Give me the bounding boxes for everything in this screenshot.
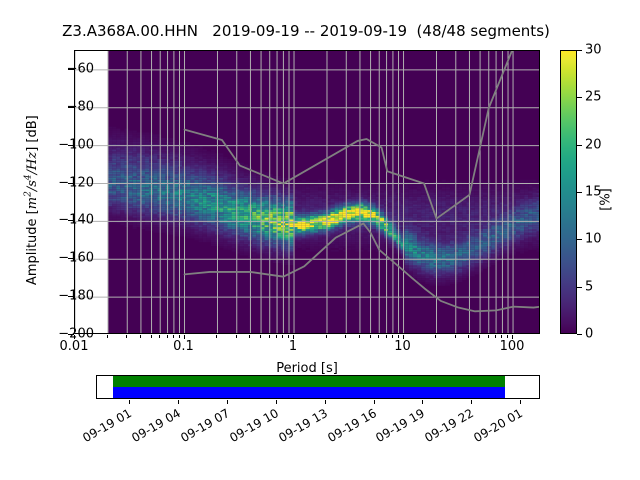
colorbar-tick-label: 20 [585,137,602,152]
x-axis-minor-tick [151,335,152,338]
colorbar-tick-label: 30 [585,43,602,58]
plot-title: Z3.A368A.00.HHN 2019-09-19 -- 2019-09-19… [0,22,612,40]
timeline-tick [325,400,326,404]
x-axis-minor-tick [260,335,261,338]
y-axis-tick-label: −120 [58,175,94,190]
x-axis-minor-tick [140,335,141,338]
timeline-tick [422,400,423,404]
y-axis-tick-label: −180 [58,289,94,304]
ppsd-histogram-canvas [75,51,540,334]
colorbar-tick-label: 5 [585,279,593,294]
x-axis-minor-tick [378,335,379,338]
x-axis-label: Period [s] [74,361,540,376]
x-axis-minor-tick [159,335,160,338]
x-axis-minor-tick [398,335,399,338]
timeline-tick [520,400,521,404]
colorbar-gradient [561,51,576,333]
x-axis-minor-tick [326,335,327,338]
x-axis-minor-tick [386,335,387,338]
x-axis-minor-tick [126,335,127,338]
x-axis-minor-tick [488,335,489,338]
x-axis-minor-tick [167,335,168,338]
x-axis-minor-tick [216,335,217,338]
timeline-tick [178,400,179,404]
timeline-tick [276,400,277,404]
data-coverage-blue [113,387,505,398]
x-axis-minor-tick [107,335,108,338]
x-axis-tick-label: 10 [394,339,411,354]
y-axis-tick-label: −60 [67,61,94,76]
colorbar-tick [577,287,582,288]
x-axis-minor-tick [179,335,180,338]
x-axis-tick-label: 0.1 [173,339,194,354]
colorbar-tick [577,97,582,98]
x-axis-minor-tick [501,335,502,338]
x-axis-minor-tick [435,335,436,338]
colorbar-tick-label: 15 [585,185,602,200]
colorbar-tick-label: 25 [585,90,602,105]
x-axis-minor-tick [455,335,456,338]
colorbar-tick [577,145,582,146]
x-axis-minor-tick [479,335,480,338]
x-axis-minor-tick [236,335,237,338]
x-axis-minor-tick [173,335,174,338]
x-axis-minor-tick [359,335,360,338]
colorbar-tick [577,50,582,51]
y-axis-tick-label: −140 [58,213,94,228]
colorbar [560,50,577,334]
x-axis-tick-label: 0.01 [60,339,89,354]
y-axis-tick-label: −100 [58,137,94,152]
ppsd-figure: Z3.A368A.00.HHN 2019-09-19 -- 2019-09-19… [0,0,640,480]
x-axis-minor-tick [507,335,508,338]
colorbar-label: [%] [599,160,614,240]
x-axis-minor-tick [345,335,346,338]
x-axis-minor-tick [249,335,250,338]
x-axis-minor-tick [282,335,283,338]
x-axis-minor-tick [392,335,393,338]
y-axis-tick-label: −160 [58,251,94,266]
x-axis-minor-tick [288,335,289,338]
x-axis-minor-tick [468,335,469,338]
timeline-tick [227,400,228,404]
x-axis-tick-label: 1 [289,339,297,354]
x-axis-minor-tick [276,335,277,338]
colorbar-tick [577,239,582,240]
y-axis-tick-label: −80 [67,99,94,114]
colorbar-tick [577,192,582,193]
timeline-tick [374,400,375,404]
colorbar-tick-label: 0 [585,327,593,342]
x-axis-tick-label: 100 [500,339,525,354]
data-coverage-timeline [96,375,540,399]
timeline-tick [129,400,130,404]
ppsd-plot-area [74,50,540,334]
colorbar-tick [577,334,582,335]
timeline-tick [471,400,472,404]
x-axis-minor-tick [370,335,371,338]
y-axis-label: Amplitude [m2/s4/Hz] [dB] [24,50,40,350]
x-axis-minor-tick [269,335,270,338]
colorbar-tick-label: 10 [585,232,602,247]
x-axis-minor-tick [495,335,496,338]
data-coverage-green [113,376,505,387]
